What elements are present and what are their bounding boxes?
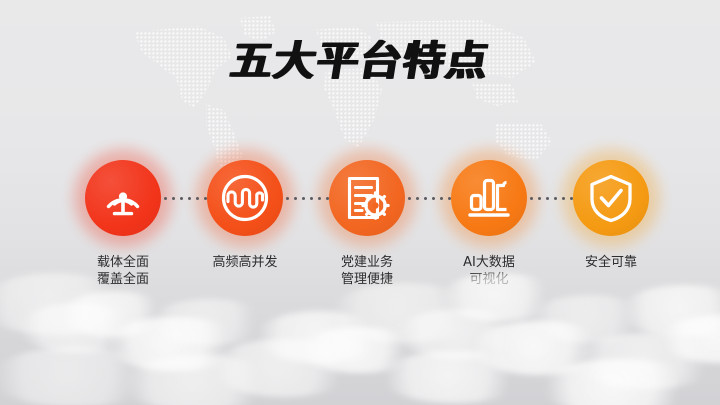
cloud-puff bbox=[540, 359, 700, 405]
feature-badge-1[interactable] bbox=[85, 160, 161, 236]
connector-dot bbox=[318, 197, 321, 200]
cloud-puff bbox=[0, 347, 160, 405]
cloud-puff bbox=[660, 315, 720, 363]
connector-dot bbox=[530, 197, 533, 200]
connector-dot bbox=[164, 197, 167, 200]
connector-dot bbox=[424, 197, 427, 200]
feature-step-1[interactable]: 载体全面 覆盖全面 bbox=[62, 160, 184, 288]
connector-dot bbox=[286, 197, 289, 200]
feature-label-1: 载体全面 覆盖全面 bbox=[62, 254, 184, 288]
cloud-puff bbox=[300, 327, 420, 373]
connector-dot bbox=[310, 197, 313, 200]
connector-dot bbox=[416, 197, 419, 200]
document-gear-icon bbox=[329, 160, 405, 236]
cloud-puff bbox=[470, 321, 610, 375]
connector-dot bbox=[180, 197, 183, 200]
broadcast-tower-icon bbox=[85, 160, 161, 236]
cloud-puff bbox=[210, 339, 360, 397]
connector-dot bbox=[188, 197, 191, 200]
cloud-puff bbox=[18, 303, 138, 353]
feature-step-3[interactable]: 党建业务 管理便捷 bbox=[306, 160, 428, 288]
connector-dot bbox=[562, 197, 565, 200]
shield-check-icon bbox=[573, 160, 649, 236]
cloud-puff bbox=[150, 299, 270, 345]
feature-step-2[interactable]: 高频高并发 bbox=[184, 160, 306, 271]
connector-dot bbox=[432, 197, 435, 200]
cloud-puff bbox=[105, 317, 245, 371]
feature-steps-row: 载体全面 覆盖全面 高频高并发 党建业务 管理便捷 bbox=[0, 160, 720, 300]
cloud-puff bbox=[530, 295, 650, 343]
feature-badge-5[interactable] bbox=[573, 160, 649, 236]
slide-title: 五大平台特点 bbox=[0, 36, 720, 86]
connector-dot bbox=[302, 197, 305, 200]
feature-badge-4[interactable] bbox=[451, 160, 527, 236]
connector-dot bbox=[546, 197, 549, 200]
feature-step-5[interactable]: 安全可靠 bbox=[550, 160, 672, 271]
slide-canvas: 五大平台特点 载体全面 覆盖全面 高频高并发 bbox=[0, 0, 720, 405]
connector-dot bbox=[538, 197, 541, 200]
feature-label-4: AI大数据 可视化 bbox=[428, 254, 550, 288]
cloud-puff bbox=[395, 309, 525, 359]
cloud-puff bbox=[120, 355, 280, 405]
connector-dot bbox=[408, 197, 411, 200]
cloud-puff bbox=[255, 311, 385, 363]
cloud-puff bbox=[575, 333, 720, 389]
cloud-puff bbox=[380, 351, 530, 403]
feature-step-4[interactable]: AI大数据 可视化 bbox=[428, 160, 550, 288]
connector-dot bbox=[294, 197, 297, 200]
feature-label-2: 高频高并发 bbox=[184, 254, 306, 271]
bar-chart-icon bbox=[451, 160, 527, 236]
waveform-icon bbox=[207, 160, 283, 236]
connector-dot bbox=[554, 197, 557, 200]
feature-badge-2[interactable] bbox=[207, 160, 283, 236]
connector-dot bbox=[440, 197, 443, 200]
connector-dot bbox=[196, 197, 199, 200]
connector-dot bbox=[172, 197, 175, 200]
feature-badge-3[interactable] bbox=[329, 160, 405, 236]
feature-label-5: 安全可靠 bbox=[550, 254, 672, 271]
feature-label-3: 党建业务 管理便捷 bbox=[306, 254, 428, 288]
